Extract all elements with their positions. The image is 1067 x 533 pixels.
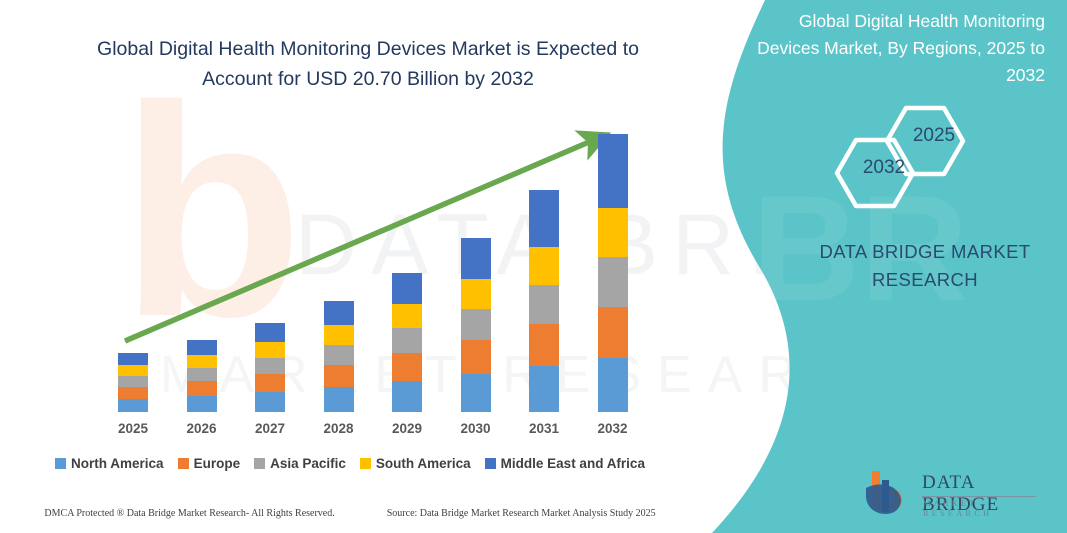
bar-segment-north-america	[118, 399, 148, 412]
legend-label: Middle East and Africa	[501, 456, 645, 471]
bar-segment-north-america	[324, 387, 354, 412]
legend-item-south-america[interactable]: South America	[360, 456, 471, 471]
x-axis-label-2029: 2029	[373, 421, 441, 436]
bar-segment-south-america	[187, 355, 217, 368]
x-axis-label-2025: 2025	[99, 421, 167, 436]
logo-mark-icon	[862, 468, 920, 518]
bar-segment-middle-east-and-africa	[187, 340, 217, 355]
bar-segment-europe	[392, 353, 422, 381]
bar-column-2027	[255, 323, 285, 412]
legend-swatch-icon	[178, 458, 189, 469]
bar-segment-asia-pacific	[392, 328, 422, 353]
footer: DMCA Protected ® Data Bridge Market Rese…	[0, 508, 700, 519]
bar-segment-north-america	[255, 392, 285, 412]
x-axis-label-2027: 2027	[236, 421, 304, 436]
bar-segment-middle-east-and-africa	[529, 190, 559, 247]
bar-segment-middle-east-and-africa	[461, 238, 491, 279]
bar-segment-south-america	[461, 279, 491, 309]
bar-column-2032	[598, 134, 628, 412]
bar-segment-middle-east-and-africa	[324, 301, 354, 325]
bar-segment-asia-pacific	[598, 257, 628, 307]
bar-segment-middle-east-and-africa	[598, 134, 628, 208]
bar-segment-south-america	[324, 325, 354, 345]
brand-line-1: DATA BRIDGE MARKET	[795, 238, 1055, 266]
growth-arrow	[0, 0, 700, 533]
infographic-stage: b DATA BRIDGE MARKET RESEARCH BR Global …	[0, 0, 1067, 533]
legend-swatch-icon	[55, 458, 66, 469]
brand-line-2: RESEARCH	[795, 266, 1055, 294]
bar-segment-south-america	[255, 342, 285, 358]
bar-segment-asia-pacific	[187, 368, 217, 381]
bar-column-2029	[392, 273, 422, 412]
bar-segment-asia-pacific	[255, 358, 285, 374]
x-axis-label-2030: 2030	[442, 421, 510, 436]
logo-divider	[922, 496, 1036, 497]
footer-copyright: DMCA Protected ® Data Bridge Market Rese…	[44, 508, 334, 519]
bar-segment-north-america	[598, 358, 628, 412]
bar-segment-europe	[324, 365, 354, 387]
footer-source: Source: Data Bridge Market Research Mark…	[387, 508, 656, 519]
x-axis-label-2032: 2032	[579, 421, 647, 436]
bar-segment-europe	[118, 387, 148, 399]
brand-name: DATA BRIDGE MARKET RESEARCH	[795, 238, 1055, 294]
bar-segment-asia-pacific	[324, 345, 354, 365]
bar-segment-asia-pacific	[529, 285, 559, 324]
data-bridge-logo: DATA BRIDGE MARKET RESEARCH	[862, 468, 1042, 520]
legend-label: Europe	[194, 456, 241, 471]
bar-segment-north-america	[529, 366, 559, 412]
legend-label: South America	[376, 456, 471, 471]
legend-swatch-icon	[254, 458, 265, 469]
bar-column-2031	[529, 190, 559, 412]
bar-segment-north-america	[461, 374, 491, 412]
legend-item-middle-east-and-africa[interactable]: Middle East and Africa	[485, 456, 645, 471]
x-axis-label-2026: 2026	[168, 421, 236, 436]
bar-segment-europe	[187, 381, 217, 396]
bar-segment-north-america	[392, 381, 422, 412]
bar-segment-south-america	[392, 304, 422, 328]
bar-segment-south-america	[529, 247, 559, 285]
panel-title: Global Digital Health Monitoring Devices…	[745, 8, 1045, 89]
legend-label: Asia Pacific	[270, 456, 346, 471]
bar-column-2030	[461, 238, 491, 412]
legend-item-europe[interactable]: Europe	[178, 456, 241, 471]
bar-segment-asia-pacific	[461, 309, 491, 340]
bar-column-2025	[118, 353, 148, 412]
legend-swatch-icon	[360, 458, 371, 469]
hexagon-2025-label: 2025	[895, 125, 973, 147]
bar-segment-south-america	[598, 208, 628, 257]
bar-segment-middle-east-and-africa	[118, 353, 148, 365]
legend-item-north-america[interactable]: North America	[55, 456, 164, 471]
x-axis-label-2028: 2028	[305, 421, 373, 436]
bar-segment-europe	[598, 307, 628, 358]
bar-segment-middle-east-and-africa	[255, 323, 285, 342]
bar-column-2028	[324, 301, 354, 412]
legend-swatch-icon	[485, 458, 496, 469]
bar-segment-europe	[461, 340, 491, 374]
bar-segment-south-america	[118, 365, 148, 376]
legend-item-asia-pacific[interactable]: Asia Pacific	[254, 456, 346, 471]
bar-column-2026	[187, 340, 217, 412]
x-axis-label-2031: 2031	[510, 421, 578, 436]
logo-subtitle: MARKET RESEARCH	[923, 498, 1042, 518]
bar-segment-asia-pacific	[118, 376, 148, 387]
chart-legend: North AmericaEuropeAsia PacificSouth Ame…	[0, 456, 700, 471]
bar-segment-europe	[529, 324, 559, 366]
bar-segment-north-america	[187, 396, 217, 412]
stacked-bar-chart: 20252026202720282029203020312032	[0, 0, 700, 533]
hexagon-2032-label: 2032	[845, 157, 923, 179]
bar-segment-europe	[255, 374, 285, 392]
bar-segment-middle-east-and-africa	[392, 273, 422, 304]
legend-label: North America	[71, 456, 164, 471]
